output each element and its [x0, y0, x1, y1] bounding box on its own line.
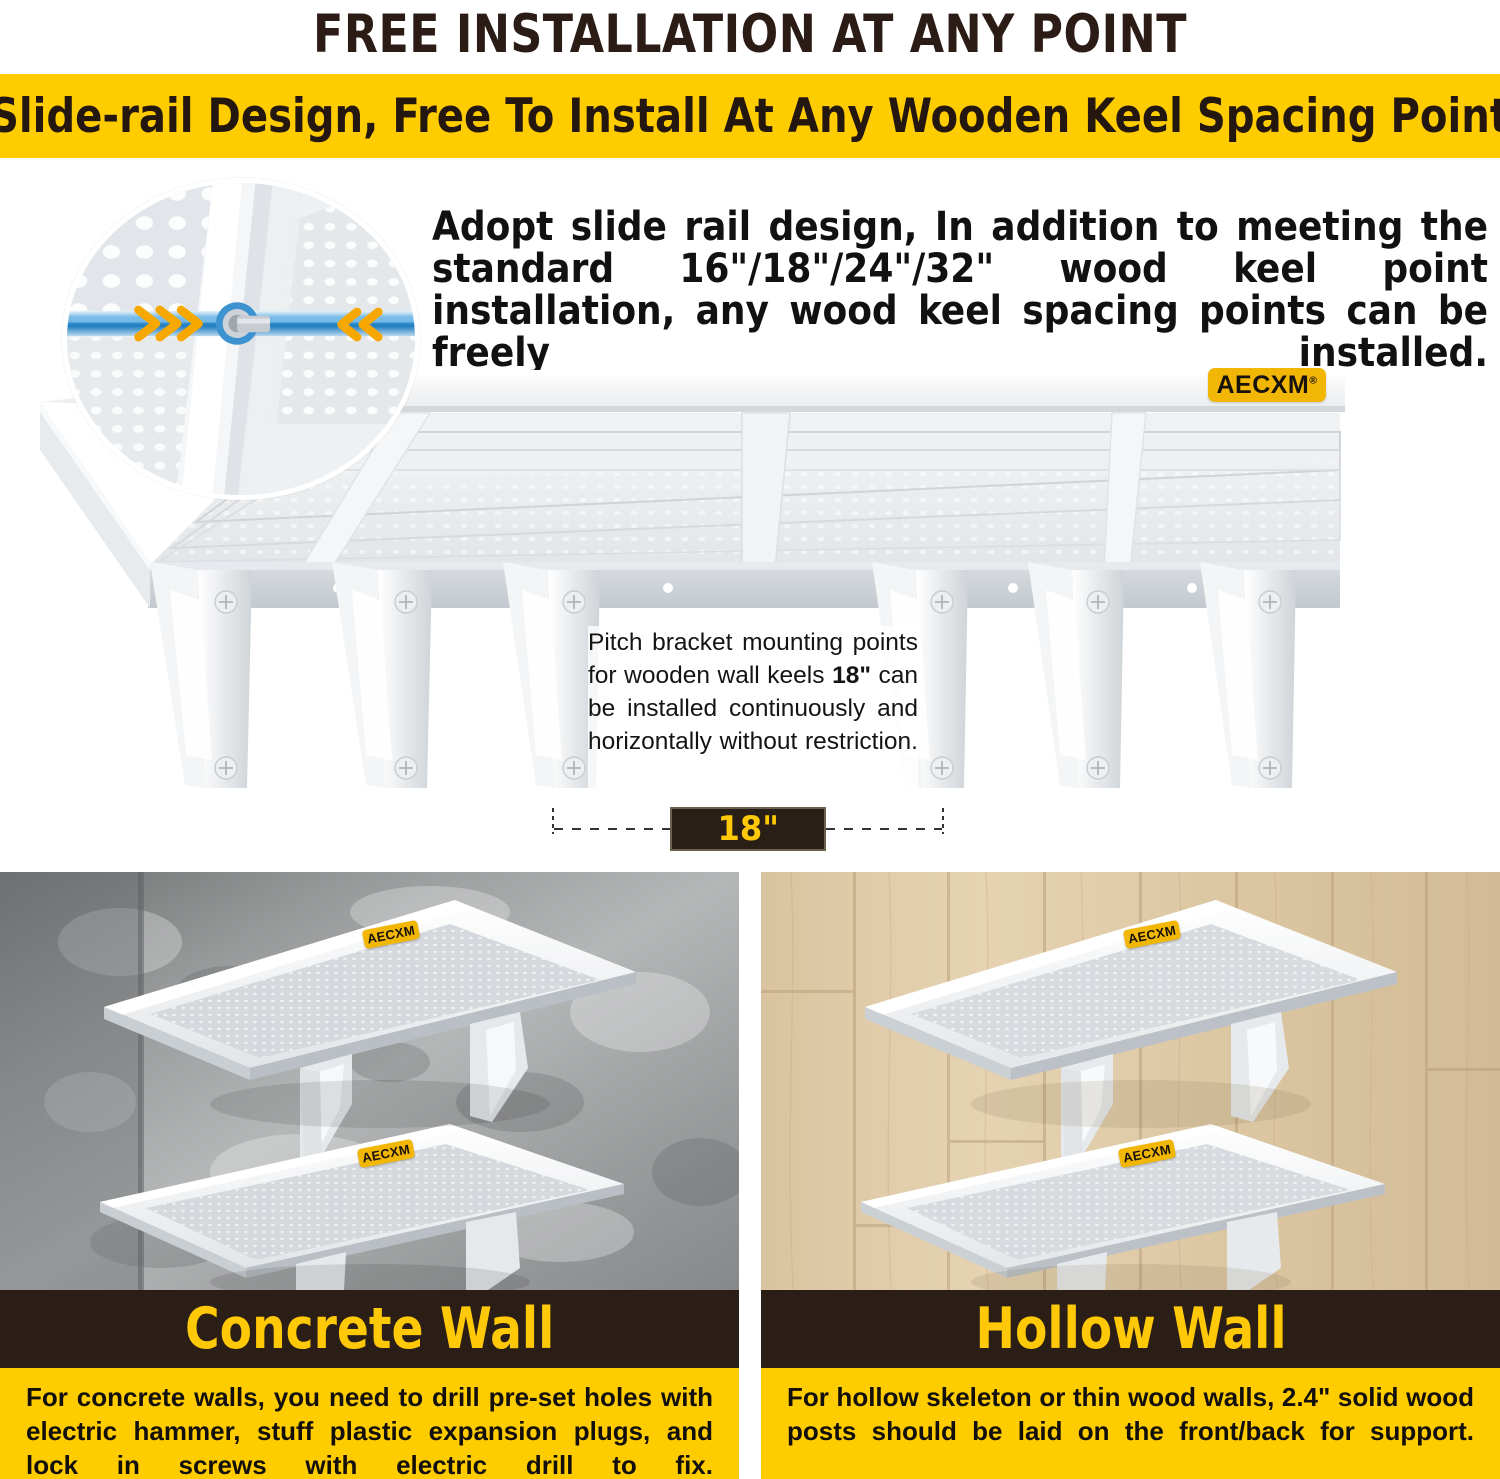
hollow-wall-photo: AECXM AECXM	[761, 872, 1500, 1290]
concrete-wall-photo: AECXM AECXM	[0, 872, 739, 1290]
brand-badge-label: AECXM®	[1216, 373, 1317, 398]
callout-emphasis: 18"	[832, 662, 871, 689]
dimension-indicator: 18"	[552, 808, 944, 850]
panel-concrete-wall: AECXM AECXM Concrete Wall For concrete w…	[0, 872, 739, 1479]
wall-type-panels: AECXM AECXM Concrete Wall For concrete w…	[0, 872, 1500, 1479]
hero-product-illustration: AECXM® Pitch bracket mounting points for…	[0, 170, 1500, 870]
bracket-leg	[332, 562, 432, 788]
subtitle-banner: Slide-rail Design, Free To Install At An…	[0, 74, 1500, 158]
shelf-front-edge	[148, 562, 1340, 608]
dimension-tick-left	[552, 808, 554, 834]
bracket-leg	[1028, 562, 1124, 788]
dimension-badge-label: 18"	[717, 812, 778, 846]
bracket-leg	[503, 562, 600, 788]
brand-badge: AECXM®	[1208, 368, 1326, 402]
slide-rail-closeup	[67, 183, 415, 495]
dimension-badge: 18"	[670, 807, 826, 851]
panel-description-band: For hollow skeleton or thin wood walls, …	[761, 1368, 1500, 1479]
panel-title-band: Concrete Wall	[0, 1290, 739, 1368]
subtitle-text: Slide-rail Design, Free To Install At An…	[0, 89, 1500, 144]
bracket-leg	[150, 562, 252, 788]
pitch-bracket-callout: Pitch bracket mounting points for wooden…	[588, 626, 918, 791]
dimension-tick-right	[942, 808, 944, 834]
slide-rail-detail-magnifier	[62, 178, 420, 500]
page-title: FREE INSTALLATION AT ANY POINT	[53, 0, 1448, 70]
panel-description: For hollow skeleton or thin wood walls, …	[787, 1380, 1474, 1479]
panel-description-band: For concrete walls, you need to drill pr…	[0, 1368, 739, 1479]
panel-title: Concrete Wall	[185, 1301, 554, 1358]
panel-hollow-wall: AECXM AECXM Hollow Wall For hollow skele…	[761, 872, 1500, 1479]
dimension-line-left	[554, 828, 672, 830]
dimension-line-right	[826, 828, 942, 830]
panel-title: Hollow Wall	[975, 1301, 1286, 1358]
panel-title-band: Hollow Wall	[761, 1290, 1500, 1368]
panel-description: For concrete walls, you need to drill pr…	[26, 1380, 713, 1479]
bracket-leg	[1200, 562, 1296, 788]
